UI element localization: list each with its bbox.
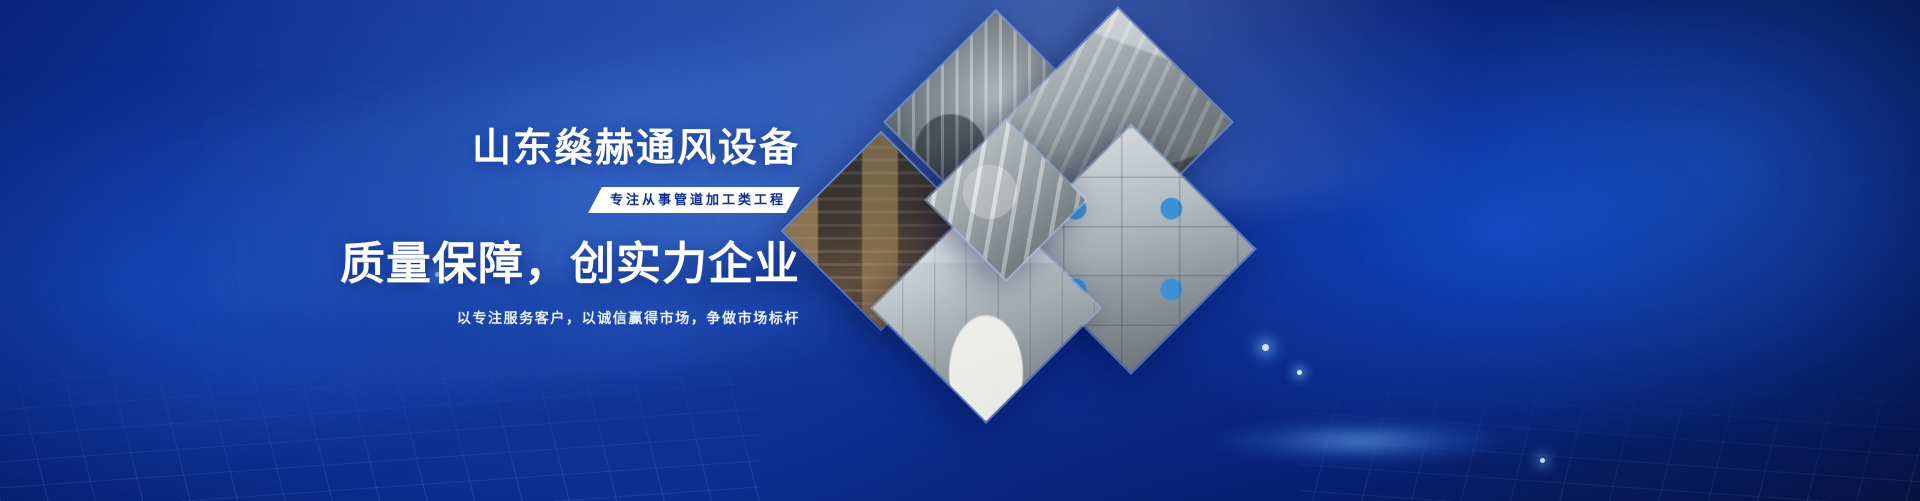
perspective-grid-right bbox=[1300, 351, 1920, 501]
glow-dot-3 bbox=[1297, 370, 1302, 375]
hero-headline: 质量保障，创实力企业 bbox=[330, 239, 800, 289]
hero-tagline: 以专注服务客户，以诚信赢得市场，争做市场标杆 bbox=[330, 308, 800, 328]
floor-glow bbox=[1210, 418, 1510, 464]
hero-copy: 山东燊赫通风设备 专注从事管道加工类工程 质量保障，创实力企业 以专注服务客户，… bbox=[330, 128, 800, 328]
glow-dot-2 bbox=[1262, 344, 1269, 351]
hero-banner: 山东燊赫通风设备 专注从事管道加工类工程 质量保障，创实力企业 以专注服务客户，… bbox=[0, 0, 1920, 501]
right-glow bbox=[1360, 0, 1920, 440]
photo-collage bbox=[800, 36, 1240, 436]
glow-dot-4 bbox=[1540, 458, 1545, 463]
specialty-badge: 专注从事管道加工类工程 bbox=[588, 187, 800, 213]
badge-wrapper: 专注从事管道加工类工程 bbox=[330, 187, 800, 213]
company-title: 山东燊赫通风设备 bbox=[330, 128, 800, 171]
perspective-grid-left bbox=[0, 331, 760, 501]
